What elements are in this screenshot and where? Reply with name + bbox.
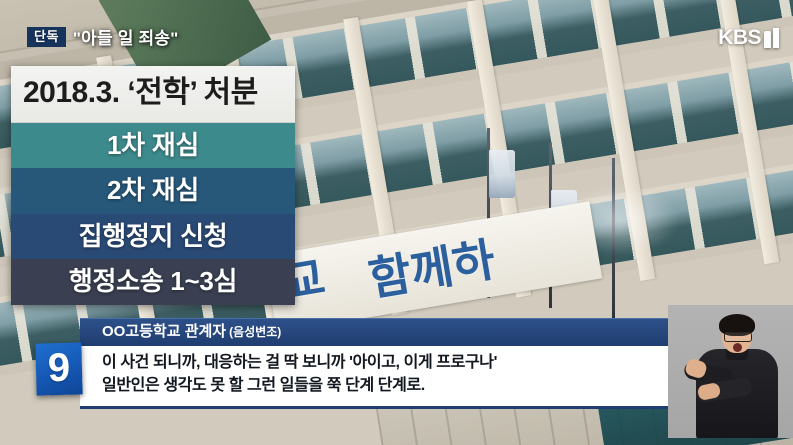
kbs-channel-mark-icon — [764, 28, 779, 48]
interpreter-glasses-icon — [724, 332, 752, 342]
caption-speaker-note: (음성변조) — [229, 325, 281, 339]
headline-bar: 단독 "아들 일 죄송" — [27, 24, 179, 49]
caption-speaker-bar: OO고등학교 관계자(음성변조) — [80, 318, 668, 346]
infographic-row-3: 집행정지 신청 — [11, 214, 295, 260]
news-9-program-bug: 9 — [35, 342, 82, 395]
broadcast-screen: 교 함께하 단독 "아들 일 죄송" KBS 2018.3. ‘전학’ 처분 1… — [0, 0, 793, 445]
infographic-header: 2018.3. ‘전학’ 처분 — [11, 66, 295, 123]
news-9-number: 9 — [47, 348, 70, 389]
banner-text-right: 함께하 — [365, 236, 498, 302]
caption-speaker-name: OO고등학교 관계자 — [102, 323, 226, 340]
infographic-row-2: 2차 재심 — [11, 168, 295, 214]
infographic-row-2-label: 2차 재심 — [107, 175, 199, 205]
infographic-row-4-label: 행정소송 1~3심 — [69, 266, 237, 296]
kbs-wordmark: KBS — [718, 27, 761, 48]
infographic-panel: 2018.3. ‘전학’ 처분 1차 재심 2차 재심 집행정지 신청 행정소송… — [11, 66, 295, 305]
infographic-row-3-label: 집행정지 신청 — [79, 221, 228, 251]
lower-third-caption: OO고등학교 관계자(음성변조) 이 사건 되니까, 대응하는 걸 딱 보니까 … — [80, 318, 668, 409]
flag — [489, 150, 515, 198]
caption-line-1: 이 사건 되니까, 대응하는 걸 딱 보니까 '아이고, 이게 프로구나' — [102, 351, 668, 374]
kbs-network-logo: KBS — [718, 27, 779, 48]
headline-text: "아들 일 죄송" — [73, 24, 179, 49]
interpreter-mouth — [733, 343, 742, 352]
sign-language-interpreter-inset — [668, 305, 793, 438]
infographic-row-1-label: 1차 재심 — [107, 130, 199, 160]
caption-quote-box: 이 사건 되니까, 대응하는 걸 딱 보니까 '아이고, 이게 프로구나' 일반… — [80, 346, 668, 409]
caption-line-2: 일반인은 생각도 못 할 그런 일들을 쭉 단계 단계로. — [102, 374, 668, 397]
infographic-row-4: 행정소송 1~3심 — [11, 259, 295, 305]
infographic-row-1: 1차 재심 — [11, 123, 295, 169]
exclusive-badge: 단독 — [27, 27, 66, 47]
